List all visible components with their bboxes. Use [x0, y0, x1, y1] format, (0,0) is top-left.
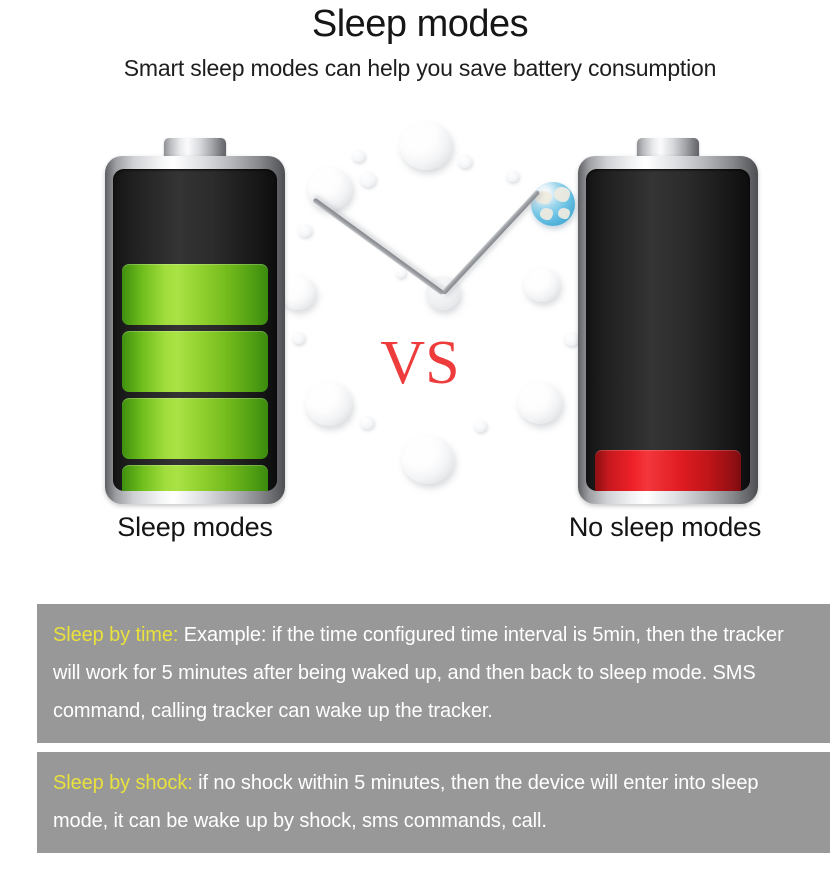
info-panel-sleep-by-time: Sleep by time: Example: if the time conf…	[37, 604, 830, 743]
clock-hour-marker	[352, 150, 365, 162]
clock-hour-marker	[506, 170, 519, 182]
battery-cell	[122, 331, 268, 392]
globe-landmass	[540, 208, 553, 220]
panel-heading-sleep-by-time: Sleep by time:	[53, 624, 178, 646]
clock-hour-marker	[280, 276, 316, 310]
clock-hour-marker	[400, 122, 452, 170]
globe-landmass	[558, 208, 570, 219]
battery-body	[113, 169, 277, 491]
clock-hour-hand	[312, 197, 444, 295]
globe-icon	[531, 182, 575, 226]
battery-comparison-illustration: VS Sleep modes No sleep modes	[0, 110, 840, 565]
page-subtitle: Smart sleep modes can help you save batt…	[0, 46, 840, 82]
caption-no-sleep-modes: No sleep modes	[515, 510, 815, 544]
battery-body	[586, 169, 750, 491]
clock-hour-marker	[474, 420, 487, 432]
battery-cell	[122, 398, 268, 459]
clock-hour-marker	[458, 155, 472, 168]
caption-sleep-modes: Sleep modes	[45, 510, 345, 544]
clock-hour-marker	[360, 172, 376, 187]
battery-full-green	[105, 138, 285, 504]
panel-heading-sleep-by-shock: Sleep by shock:	[53, 772, 193, 794]
battery-shell	[578, 156, 758, 504]
battery-cell	[122, 465, 268, 491]
clock-hour-marker	[360, 416, 374, 429]
info-panel-sleep-by-shock: Sleep by shock: if no shock within 5 min…	[37, 752, 830, 853]
clock-hour-marker	[402, 436, 454, 484]
clock-hour-marker	[396, 268, 406, 278]
page-title: Sleep modes	[0, 0, 840, 46]
header: Sleep modes Smart sleep modes can help y…	[0, 0, 840, 82]
battery-low-red	[578, 138, 758, 504]
battery-cell	[595, 450, 741, 491]
battery-cell	[122, 264, 268, 325]
battery-shell	[105, 156, 285, 504]
clock-face-background	[288, 120, 584, 492]
clock-hour-marker	[524, 268, 560, 302]
clock-hour-marker	[298, 224, 312, 237]
globe-landmass	[554, 187, 570, 202]
